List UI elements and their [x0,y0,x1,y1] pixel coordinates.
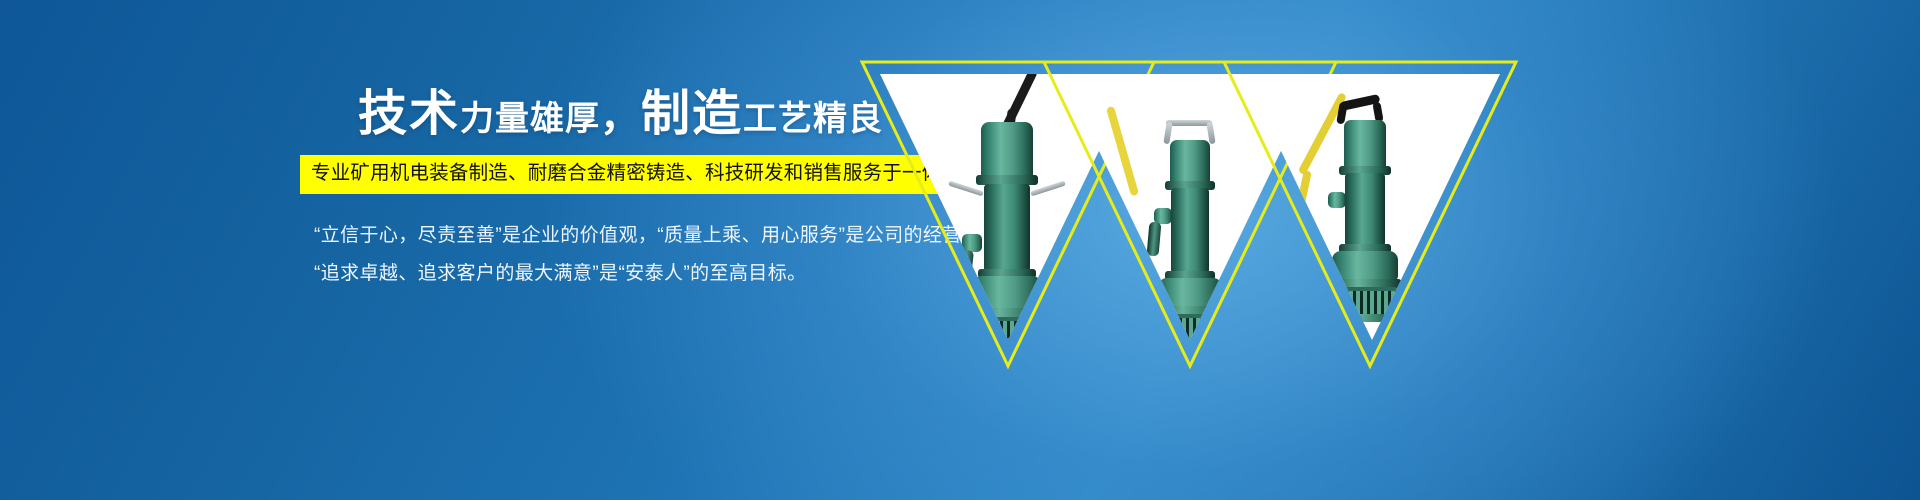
banner-headline: 技术力量雄厚，制造工艺精良 [300,90,920,139]
company-banner: 技术力量雄厚，制造工艺精良 专业矿用机电装备制造、耐磨合金精密铸造、科技研发和销… [0,0,1920,500]
banner-paragraph: “立信于心，尽责至善”是企业的价值观，“质量上乘、用心服务”是公司的经营理念， … [300,217,920,293]
headline-comma: ， [600,95,641,139]
headline-segment-manufacturing: 制造 [641,87,743,141]
paragraph-line-2: “追求卓越、追求客户的最大满意”是“安泰人”的至高目标。 [300,255,920,293]
product-triangle-gallery [858,58,1568,370]
banner-text-block: 技术力量雄厚，制造工艺精良 专业矿用机电装备制造、耐磨合金精密铸造、科技研发和销… [300,90,920,293]
headline-segment-technology: 技术 [358,87,460,141]
product-triangle-3[interactable] [1220,58,1520,370]
paragraph-line-1: “立信于心，尽责至善”是企业的价值观，“质量上乘、用心服务”是公司的经营理念， [300,217,920,255]
headline-segment-strength: 力量雄厚 [460,100,600,138]
